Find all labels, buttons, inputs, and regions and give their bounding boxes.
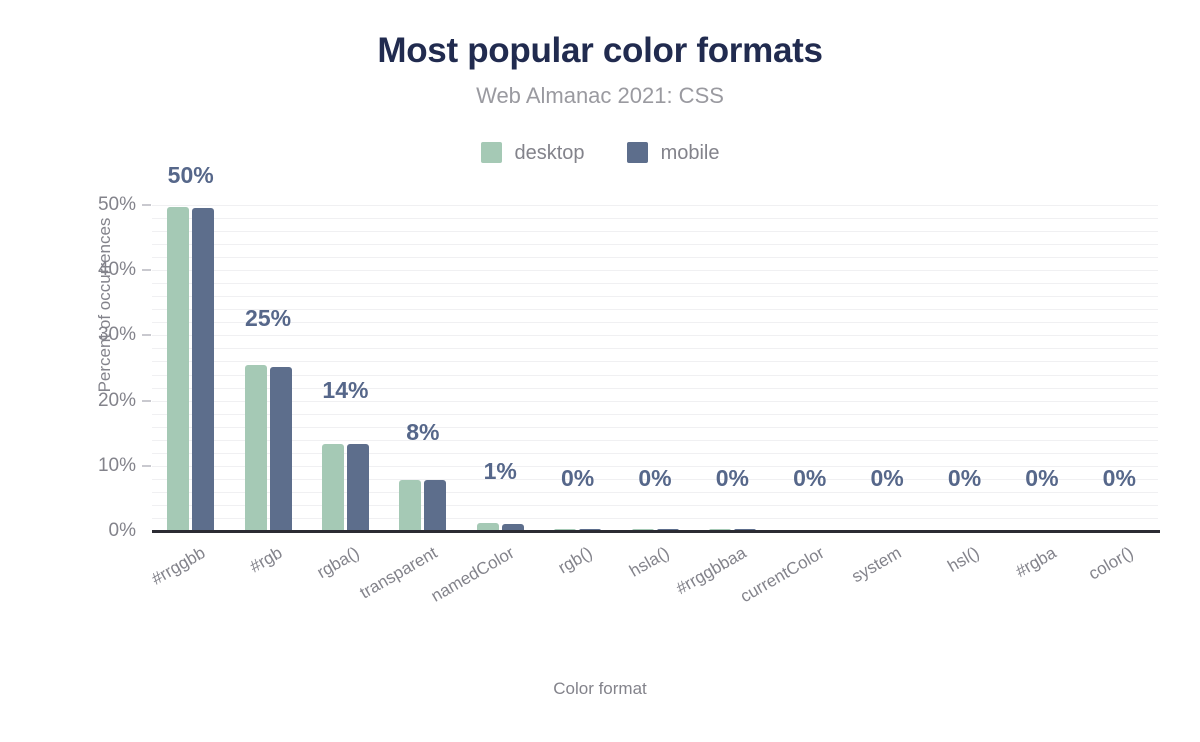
y-tick-mark — [142, 269, 151, 271]
bar-value-label: 0% — [871, 465, 904, 492]
bar-value-label: 0% — [948, 465, 981, 492]
bar-desktop[interactable] — [322, 444, 344, 531]
bar-group — [167, 205, 214, 531]
legend-item-mobile[interactable]: mobile — [627, 142, 720, 163]
y-tick-label: 40% — [76, 259, 136, 281]
bar-value-label: 0% — [561, 465, 594, 492]
bar-desktop[interactable] — [245, 365, 267, 531]
legend-swatch-desktop — [481, 142, 502, 163]
bar-value-label: 0% — [1103, 465, 1136, 492]
bar-mobile[interactable] — [347, 444, 369, 531]
y-tick-mark — [142, 334, 151, 336]
bar-group — [399, 205, 446, 531]
bar-value-label: 0% — [1025, 465, 1058, 492]
bar-value-label: 0% — [793, 465, 826, 492]
bar-value-label: 50% — [168, 162, 214, 189]
bar-mobile[interactable] — [192, 208, 214, 531]
x-axis-baseline — [152, 530, 1160, 533]
y-tick-mark — [142, 465, 151, 467]
y-tick-label: 10% — [76, 455, 136, 477]
x-axis-title: Color format — [0, 679, 1200, 699]
bar-value-label: 14% — [322, 377, 368, 404]
chart-header: Most popular color formats Web Almanac 2… — [0, 0, 1200, 109]
y-tick-label: 20% — [76, 390, 136, 412]
y-tick-label: 0% — [76, 520, 136, 542]
bar-value-label: 25% — [245, 305, 291, 332]
bar-desktop[interactable] — [399, 480, 421, 531]
bar-value-label: 1% — [484, 458, 517, 485]
chart-subtitle: Web Almanac 2021: CSS — [0, 71, 1200, 109]
y-tick-label: 30% — [76, 324, 136, 346]
y-tick-mark — [142, 204, 151, 206]
bar-group — [322, 205, 369, 531]
chart-title: Most popular color formats — [0, 0, 1200, 71]
legend-label-desktop: desktop — [515, 143, 585, 163]
y-tick-label: 50% — [76, 194, 136, 216]
bar-value-label: 0% — [716, 465, 749, 492]
bar-group — [245, 205, 292, 531]
legend-item-desktop[interactable]: desktop — [481, 142, 585, 163]
bar-mobile[interactable] — [270, 367, 292, 531]
y-tick-mark — [142, 400, 151, 402]
chart-legend: desktopmobile — [0, 142, 1200, 163]
bar-value-label: 0% — [638, 465, 671, 492]
legend-label-mobile: mobile — [661, 143, 720, 163]
legend-swatch-mobile — [627, 142, 648, 163]
y-axis-tick-labels: 0%10%20%30%40%50% — [72, 0, 136, 742]
bar-value-label: 8% — [406, 419, 439, 446]
bar-desktop[interactable] — [167, 207, 189, 531]
bar-mobile[interactable] — [424, 480, 446, 531]
